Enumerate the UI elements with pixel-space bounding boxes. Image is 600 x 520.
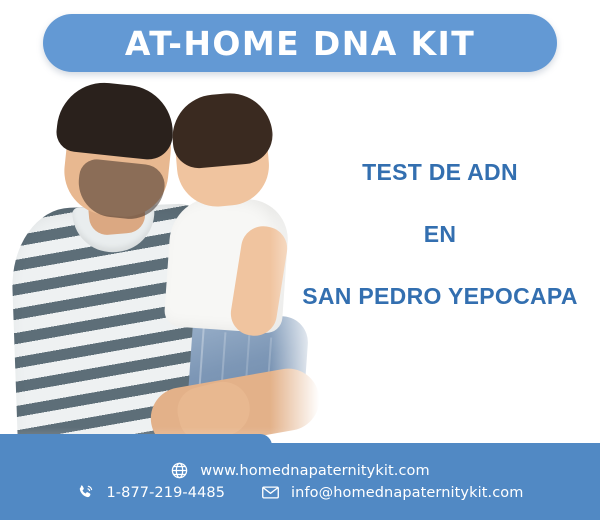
headline-line-2: EN [290,222,590,246]
website-label: www.homednapaternitykit.com [200,463,430,479]
header-banner: AT-HOME DNA KIT [43,14,557,72]
headline-line-3: SAN PEDRO YEPOCAPA [290,284,590,308]
envelope-icon [261,483,280,502]
photo-canvas [0,78,330,453]
phone-icon [76,483,95,502]
globe-icon [170,461,189,480]
email-item[interactable]: info@homednapaternitykit.com [261,483,523,502]
phone-item[interactable]: 1-877-219-4485 [76,483,225,502]
footer-contact-info: www.homednapaternitykit.com 1-877-219-44… [0,443,600,520]
child-hair [169,90,275,170]
page-title: AT-HOME DNA KIT [125,27,475,60]
poster-root: AT-HOME DNA KIT TEST DE ADN EN SAN PEDRO… [0,0,600,520]
headline-block: TEST DE ADN EN SAN PEDRO YEPOCAPA [290,160,590,308]
footer-row-phone-email: 1-877-219-4485 info@homednapaternitykit.… [76,483,523,502]
footer-row-website: www.homednapaternitykit.com [170,461,430,480]
email-label: info@homednapaternitykit.com [291,485,523,501]
man-hair [55,78,178,162]
family-photo [0,78,330,453]
phone-label: 1-877-219-4485 [106,485,225,501]
headline-line-1: TEST DE ADN [290,160,590,184]
website-item[interactable]: www.homednapaternitykit.com [170,461,430,480]
